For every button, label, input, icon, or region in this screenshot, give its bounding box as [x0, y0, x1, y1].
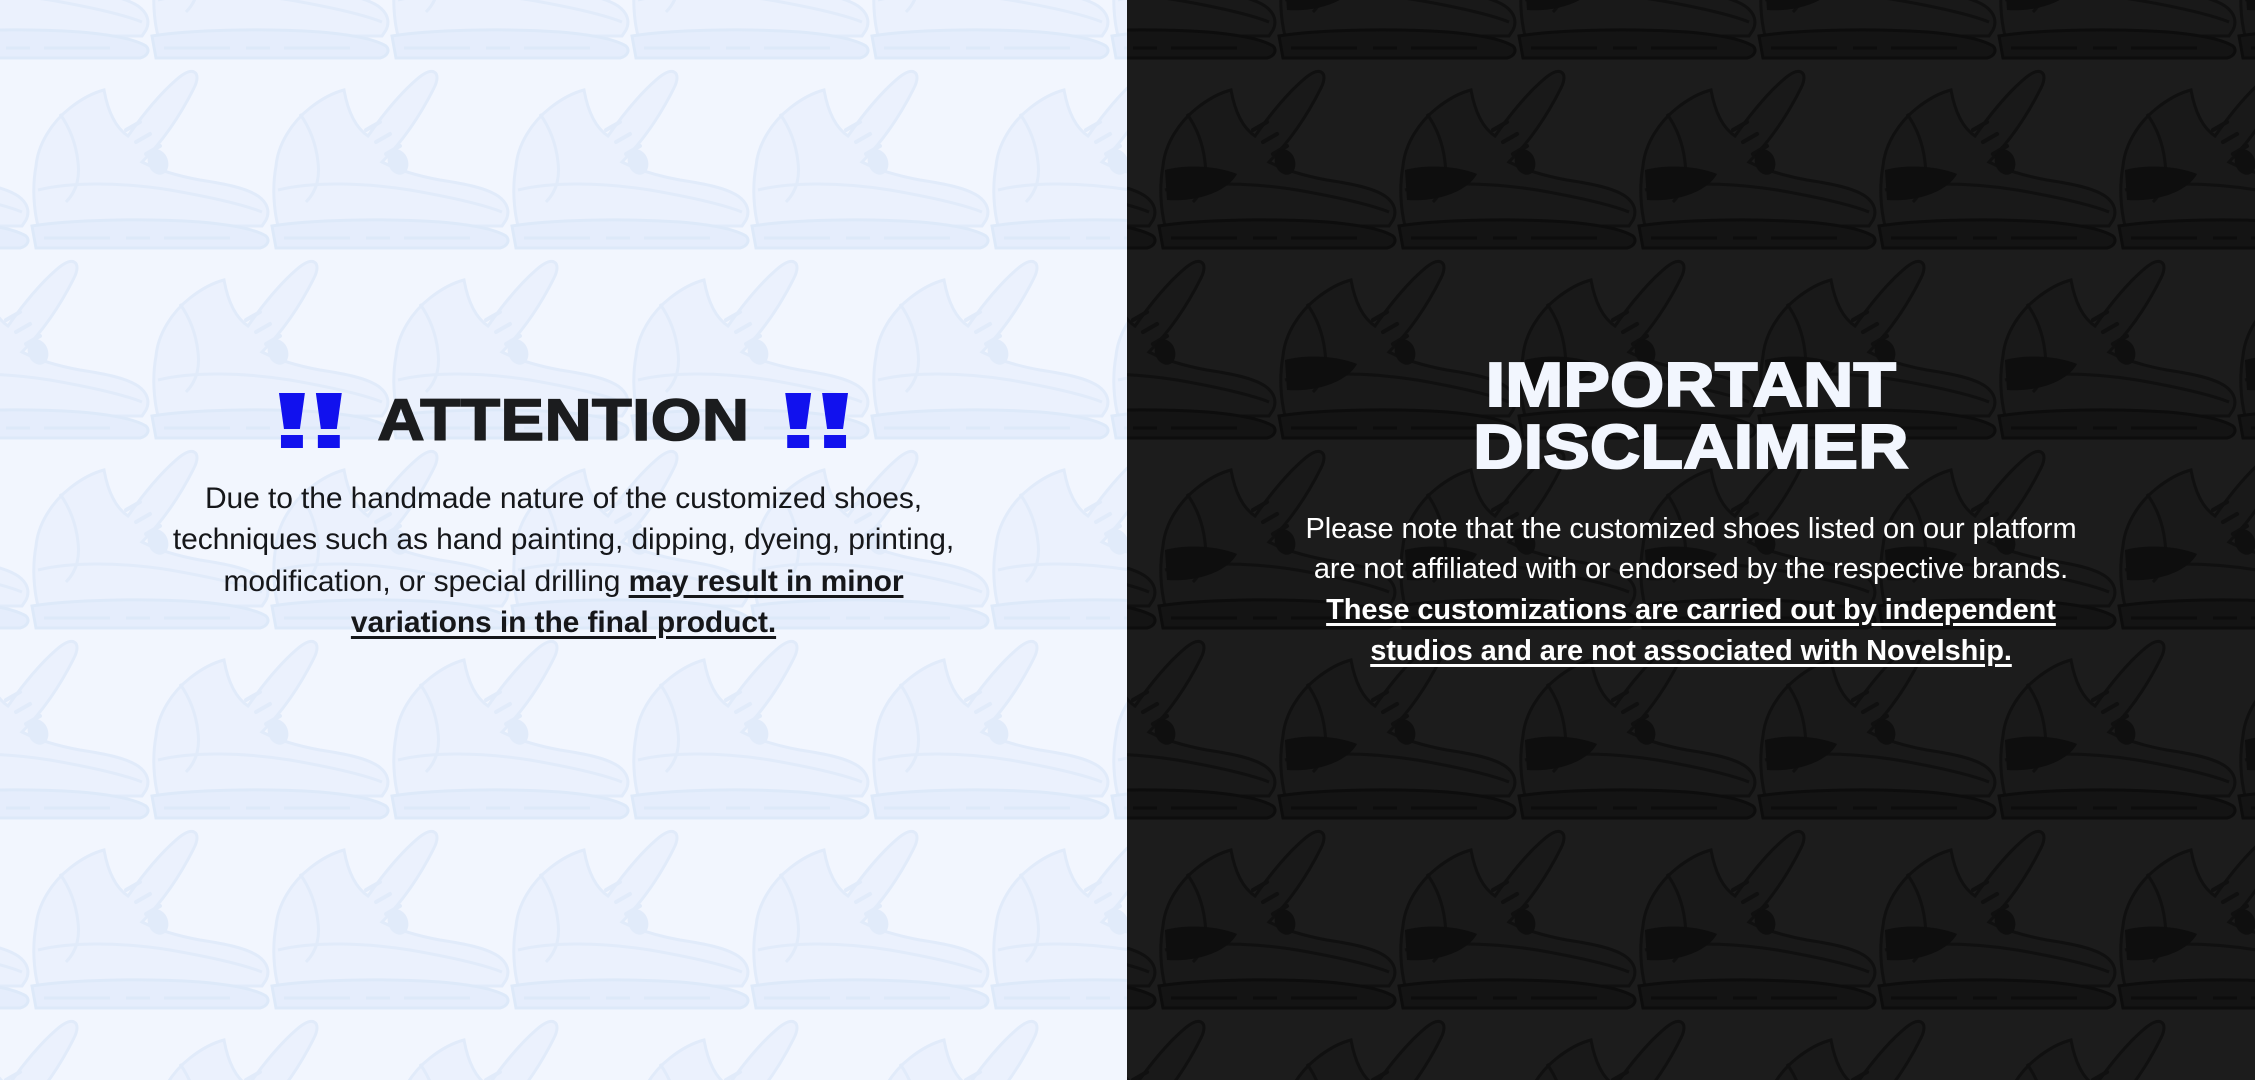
double-exclamation-icon	[783, 391, 850, 449]
attention-body: Due to the handmade nature of the custom…	[164, 478, 964, 644]
disclaimer-body-emphasis: These customizations are carried out by …	[1326, 594, 2056, 667]
disclaimer-banner: ATTENTION Due to the handmade nature of …	[0, 0, 2255, 1080]
attention-heading-text: ATTENTION	[378, 391, 750, 450]
attention-heading: ATTENTION	[0, 391, 1127, 450]
disclaimer-heading-line1: IMPORTANT	[1333, 355, 2050, 417]
disclaimer-body: Please note that the customized shoes li…	[1281, 509, 2101, 671]
disclaimer-panel: IMPORTANT DISCLAIMER Please note that th…	[1127, 0, 2255, 1080]
double-exclamation-icon	[278, 391, 345, 449]
attention-content: ATTENTION Due to the handmade nature of …	[0, 391, 1127, 644]
disclaimer-heading-line2: DISCLAIMER	[1333, 417, 2050, 479]
disclaimer-body-normal: Please note that the customized shoes li…	[1306, 513, 2077, 586]
disclaimer-content: IMPORTANT DISCLAIMER Please note that th…	[1127, 355, 2255, 671]
disclaimer-heading: IMPORTANT DISCLAIMER	[1333, 355, 2050, 479]
attention-panel: ATTENTION Due to the handmade nature of …	[0, 0, 1127, 1080]
